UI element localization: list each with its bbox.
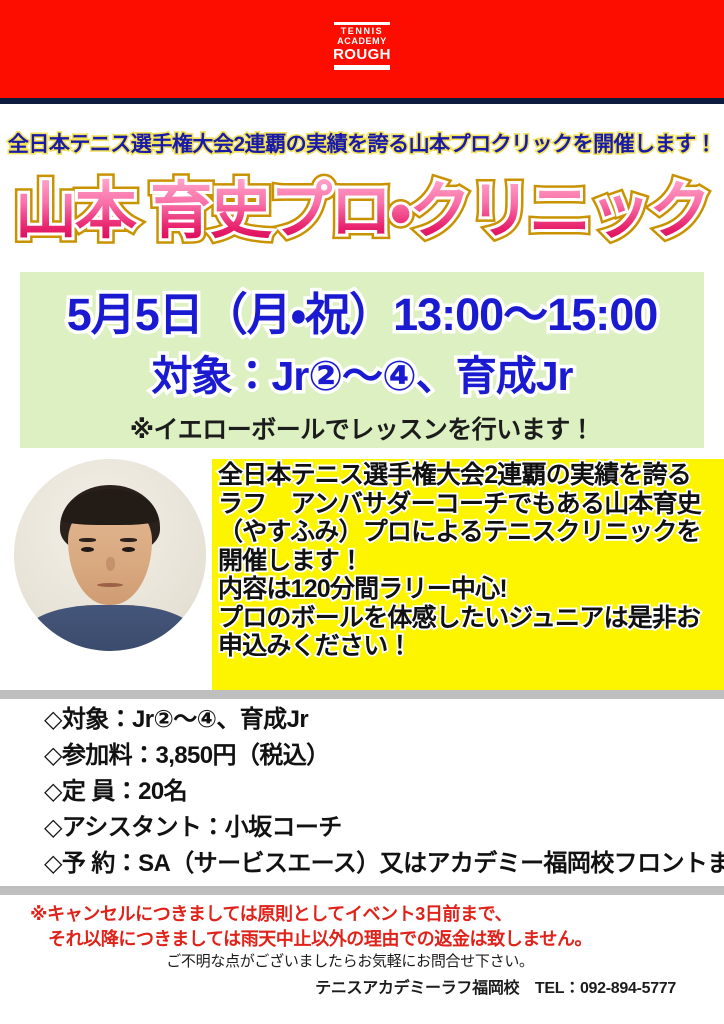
photo-eyebrow-right bbox=[120, 538, 137, 542]
yellow-ball-note: ※イエローボールでレッスンを行います！ bbox=[0, 410, 724, 446]
cancellation-policy-line-2: それ以降につきましては雨天中止以外の理由での返金は致しません。 bbox=[48, 925, 724, 951]
detail-row-target: ◇対象：Jr②〜④、育成Jr bbox=[44, 702, 704, 738]
detail-row-reservation: ◇予 約：SA（サービスエース）又はアカデミー福岡校フロントまで bbox=[44, 846, 704, 882]
inquiry-note: ご不明な点がございましたらお気軽にお問合せ下さい。 bbox=[0, 950, 700, 971]
photo-mouth bbox=[97, 583, 123, 587]
photo-eye-right bbox=[122, 547, 135, 552]
page-title: 山本 育史プロ・クリニック 山本 育史プロ・クリニック 山本 育史プロ・クリニッ… bbox=[0, 178, 724, 246]
divider-top bbox=[0, 690, 724, 699]
logo-line-tennis: TENNIS bbox=[332, 27, 392, 36]
coach-portrait-photo bbox=[14, 459, 206, 651]
header-red-band: TENNIS ACADEMY ROUGH bbox=[0, 0, 724, 104]
cancellation-policy-line-1: ※キャンセルにつきましては原則としてイベント3日前まで、 bbox=[30, 900, 724, 926]
detail-row-capacity: ◇定 員：20名 bbox=[44, 774, 704, 810]
description-line: 内容は120分間ラリー中心! bbox=[218, 575, 724, 604]
divider-bottom bbox=[0, 886, 724, 895]
photo-nose bbox=[106, 557, 115, 571]
description-line: 全日本テニス選手権大会2連覇の実績を誇る bbox=[218, 461, 724, 490]
detail-row-assistant: ◇アシスタント：小坂コーチ bbox=[44, 810, 704, 846]
photo-shirt bbox=[26, 605, 194, 651]
logo-line-academy: ACADEMY bbox=[332, 37, 392, 46]
description-text: 全日本テニス選手権大会2連覇の実績を誇る ラフ アンバサダーコーチでもある山本育… bbox=[218, 461, 724, 661]
event-target-audience: 対象：Jr②〜④、育成Jr bbox=[0, 342, 724, 402]
detail-row-fee: ◇参加料：3,850円（税込） bbox=[44, 738, 704, 774]
title-gradient-fill: 山本 育史プロ・クリニック bbox=[15, 177, 709, 246]
logo-line-rough: ROUGH bbox=[332, 47, 392, 62]
logo-top-rule bbox=[334, 22, 390, 25]
contact-info: テニスアカデミーラフ福岡校 TEL：092-894-5777 bbox=[0, 974, 700, 998]
description-line: プロのボールを体感したいジュニアは是非お bbox=[218, 604, 724, 633]
description-line: 申込みください！ bbox=[218, 632, 724, 661]
brand-logo: TENNIS ACADEMY ROUGH bbox=[332, 22, 392, 70]
photo-eyebrow-left bbox=[79, 538, 96, 542]
photo-eye-left bbox=[81, 547, 94, 552]
description-line: ラフ アンバサダーコーチでもある山本育史 bbox=[218, 490, 724, 519]
description-line: （やすふみ）プロによるテニスクリニックを bbox=[218, 518, 724, 547]
logo-bottom-rule bbox=[334, 65, 390, 70]
description-line: 開催します！ bbox=[218, 547, 724, 576]
event-date-time: 5月5日（月・祝）13:00〜15:00 bbox=[0, 278, 724, 343]
title-layers: 山本 育史プロ・クリニック 山本 育史プロ・クリニック 山本 育史プロ・クリニッ… bbox=[15, 178, 709, 246]
event-details-list: ◇対象：Jr②〜④、育成Jr ◇参加料：3,850円（税込） ◇定 員：20名 … bbox=[44, 702, 704, 882]
headline-banner: 全日本テニス選手権大会2連覇の実績を誇る山本プロクリックを開催します！ bbox=[0, 128, 724, 158]
